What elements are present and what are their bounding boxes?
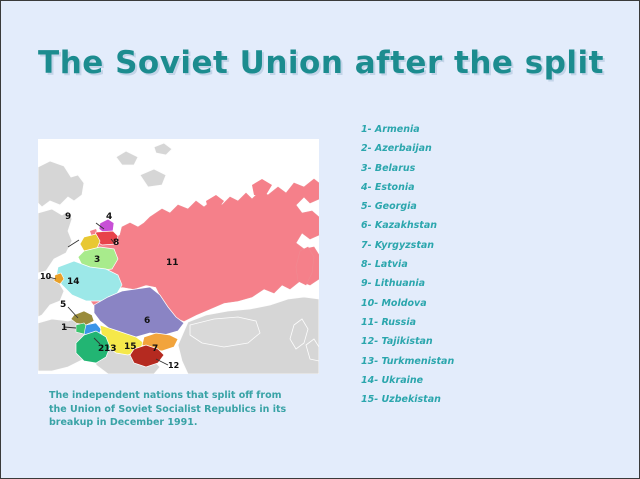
country-legend: 1- Armenia 2- Azerbaijan 3- Belarus 4- E… — [361, 120, 541, 409]
legend-item-ukraine: 14- Ukraine — [361, 371, 541, 390]
legend-item-uzbekistan: 15- Uzbekistan — [361, 390, 541, 409]
legend-item-turkmenistan: 13- Turkmenistan — [361, 352, 541, 371]
legend-item-georgia: 5- Georgia — [361, 197, 541, 216]
legend-item-armenia: 1- Armenia — [361, 120, 541, 139]
map-panel: 1 2 3 4 5 6 7 8 9 10 11 12 13 14 15 — [38, 139, 319, 374]
legend-item-tajikistan: 12- Tajikistan — [361, 332, 541, 351]
map-caption: The independent nations that split off f… — [49, 389, 299, 430]
caption-line-2: the Union of Soviet Socialist Republics … — [49, 404, 286, 415]
caption-line-1: The independent nations that split off f… — [49, 390, 282, 401]
legend-item-estonia: 4- Estonia — [361, 178, 541, 197]
soviet-union-map: 1 2 3 4 5 6 7 8 9 10 11 12 13 14 15 — [38, 139, 319, 374]
page-title: The Soviet Union after the split — [1, 45, 640, 81]
legend-item-moldova: 10- Moldova — [361, 294, 541, 313]
legend-item-kyrgyzstan: 7- Kyrgyzstan — [361, 236, 541, 255]
legend-item-azerbaijan: 2- Azerbaijan — [361, 139, 541, 158]
caption-line-3: breakup in December 1991. — [49, 417, 197, 428]
legend-item-kazakhstan: 6- Kazakhstan — [361, 216, 541, 235]
legend-item-belarus: 3- Belarus — [361, 159, 541, 178]
legend-item-russia: 11- Russia — [361, 313, 541, 332]
legend-item-latvia: 8- Latvia — [361, 255, 541, 274]
slide-canvas: The Soviet Union after the split — [0, 0, 640, 479]
legend-item-lithuania: 9- Lithuania — [361, 274, 541, 293]
